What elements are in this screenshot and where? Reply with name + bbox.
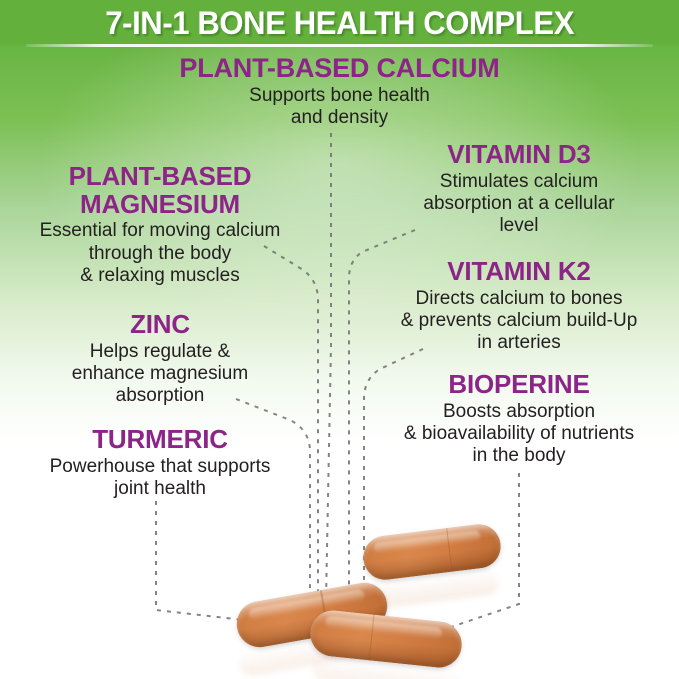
ingredient-turmeric: TURMERIC Powerhouse that supports joint … [0, 426, 320, 500]
header-divider [26, 44, 653, 47]
ingredient-title-plant-based-calcium: PLANT-BASED CALCIUM [0, 54, 679, 83]
capsule-reflection-left [237, 626, 389, 678]
infographic-poster: 7-IN-1 BONE HEALTH COMPLEX [0, 0, 679, 679]
capsule-2-seam [320, 590, 329, 636]
ingredient-description-vitamin-d3: Stimulates calcium absorption at a cellu… [359, 171, 679, 238]
ingredient-vitamin-k2: VITAMIN K2 Directs calcium to bones & pr… [359, 258, 679, 355]
ingredient-description-plant-based-magnesium: Essential for moving calcium through the… [0, 220, 320, 287]
capsule-1 [361, 522, 503, 582]
ingredient-vitamin-d3: VITAMIN D3 Stimulates calcium absorption… [359, 141, 679, 238]
ingredient-title-zinc: ZINC [0, 311, 320, 339]
ingredient-description-vitamin-k2: Directs calcium to bones & prevents calc… [359, 288, 679, 355]
capsule-2 [233, 579, 391, 651]
ingredient-bioperine: BIOPERINE Boosts absorption & bioavailab… [359, 371, 679, 468]
capsule-3 [308, 608, 464, 670]
ingredient-plant-based-calcium: PLANT-BASED CALCIUM Supports bone health… [0, 54, 679, 129]
capsule-3-seam [368, 615, 374, 661]
ingredient-description-turmeric: Powerhouse that supports joint health [0, 456, 320, 501]
ingredient-title-vitamin-d3: VITAMIN D3 [359, 141, 679, 169]
capsule-2-highlight [248, 589, 365, 621]
ingredient-description-zinc: Helps regulate & enhance magnesium absor… [0, 341, 320, 408]
connector-line-turmeric [156, 501, 305, 627]
ingredient-plant-based-magnesium: PLANT-BASED MAGNESIUM Essential for movi… [0, 163, 320, 287]
capsule-reflection-front [311, 655, 461, 679]
capsule-1-highlight [374, 530, 481, 554]
capsule-3-highlight [325, 616, 443, 640]
ingredient-title-plant-based-magnesium: PLANT-BASED MAGNESIUM [0, 163, 320, 218]
ingredient-title-turmeric: TURMERIC [0, 426, 320, 454]
capsule-reflection-top-right [362, 568, 500, 610]
capsule-1-seam [446, 528, 453, 572]
ingredient-description-plant-based-calcium: Supports bone health and density [0, 85, 679, 130]
ingredient-zinc: ZINC Helps regulate & enhance magnesium … [0, 311, 320, 408]
header-banner: 7-IN-1 BONE HEALTH COMPLEX [0, 0, 679, 46]
ingredient-description-bioperine: Boosts absorption & bioavailability of n… [359, 401, 679, 468]
connector-line-magnesium [264, 246, 318, 600]
ingredient-title-vitamin-k2: VITAMIN K2 [359, 258, 679, 286]
page-title: 7-IN-1 BONE HEALTH COMPLEX [105, 5, 574, 42]
connector-line-calcium [326, 133, 331, 600]
ingredient-title-bioperine: BIOPERINE [359, 371, 679, 399]
connector-line-bioperine [404, 473, 519, 643]
